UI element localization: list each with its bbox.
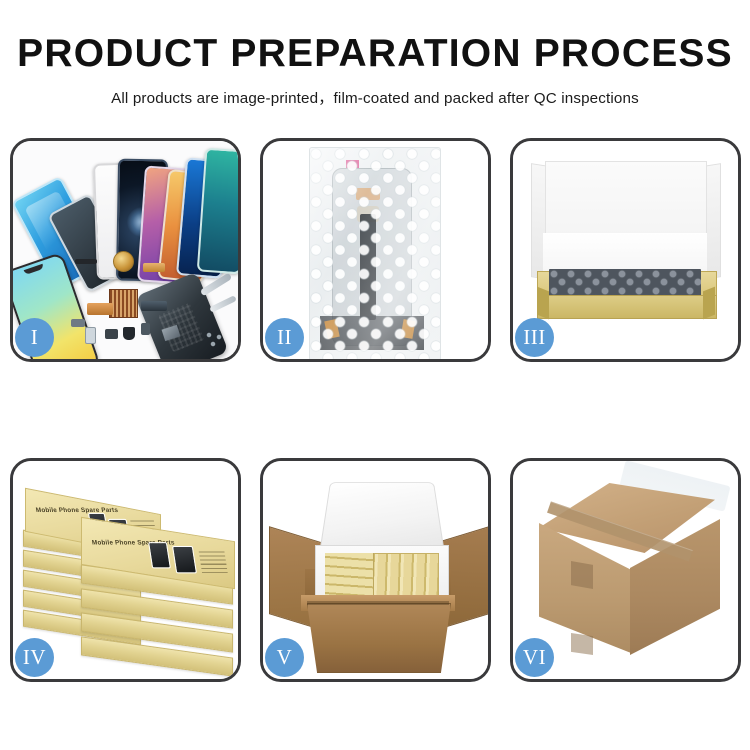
process-step-2: II <box>260 138 491 362</box>
box-print-label: Mobile Phone Spare Parts <box>35 507 118 514</box>
step-badge-4: IV <box>15 638 54 677</box>
box-stack-group: Mobile Phone Spare Parts Mobile Phone Sp… <box>19 471 233 677</box>
process-step-1: I <box>10 138 241 362</box>
page-title: PRODUCT PREPARATION PROCESS <box>0 34 750 75</box>
tray-corner-left <box>537 287 549 320</box>
carton-front-wall <box>307 603 451 673</box>
carton-edge-shadow <box>307 601 449 605</box>
process-step-5: V <box>260 458 491 682</box>
process-step-3: III <box>510 138 741 362</box>
battery-strip-icon <box>75 259 97 264</box>
small-part-icon <box>71 319 85 327</box>
process-step-6: VI <box>510 458 741 682</box>
box-print-photo <box>148 542 171 568</box>
chip-array-icon <box>109 289 138 318</box>
bubble-bag-icon <box>309 147 441 359</box>
process-step-4: Mobile Phone Spare Parts Mobile Phone Sp… <box>10 458 241 682</box>
flex-cable-gold-icon <box>143 263 165 272</box>
flex-cable-icon <box>87 303 113 315</box>
header: PRODUCT PREPARATION PROCESS All products… <box>0 0 750 108</box>
box-print-text-lines <box>198 549 227 573</box>
page-subtitle: All products are image-printed，film-coat… <box>0 86 750 108</box>
kraft-tray-front <box>537 295 717 319</box>
flex-cable-dark-icon <box>141 301 167 311</box>
carton-tab-icon <box>571 561 593 589</box>
step-badge-5: V <box>265 638 304 677</box>
box-print-photo <box>172 546 197 573</box>
packed-boxes-side-icon <box>325 553 374 601</box>
carton-tab-icon <box>571 633 593 655</box>
bubble-wrapped-contents-icon <box>549 269 701 297</box>
step-badge-6: VI <box>515 638 554 677</box>
step-badge-3: III <box>515 318 554 357</box>
small-part-icon <box>85 327 96 344</box>
small-part-icon <box>123 327 135 340</box>
foam-lid-icon <box>319 482 445 555</box>
plastic-sheen <box>310 148 440 359</box>
small-part-icon <box>141 323 150 335</box>
step-badge-1: I <box>15 318 54 357</box>
screws-icon <box>205 331 227 347</box>
step-badge-2: II <box>265 318 304 357</box>
copper-coil-icon <box>113 251 134 272</box>
process-step-grid: I II <box>10 138 740 682</box>
tray-corner-right <box>703 287 715 320</box>
small-part-icon <box>105 329 118 339</box>
